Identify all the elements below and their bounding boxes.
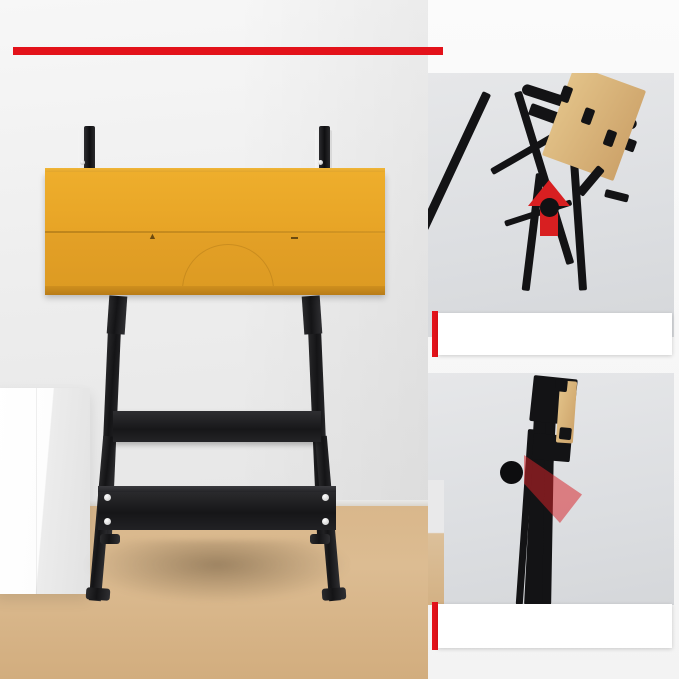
workbench: ▲: [0, 0, 428, 679]
tray-rivet: [104, 518, 111, 525]
product-feature-image: ▲: [0, 0, 679, 679]
step-2-caption-box: [438, 604, 672, 648]
inset1-tabletop: [542, 73, 646, 181]
alignment-caret-mark: ▲: [148, 231, 157, 241]
tool-tray: [98, 492, 336, 530]
inset1-crank-handle: [604, 189, 629, 203]
alignment-dash-mark: [291, 237, 298, 239]
foot-left: [86, 587, 111, 601]
inset2-clamp-b: [559, 427, 572, 440]
step-1-badge: [540, 198, 559, 217]
post-screw: [80, 160, 85, 165]
inset2-clamp-a: [555, 379, 568, 392]
foot-right: [322, 587, 347, 601]
tabletop-seam: [45, 231, 385, 233]
floor-shadow: [86, 540, 348, 602]
foot-rear-right: [310, 534, 330, 544]
leg-upper-right: [302, 295, 323, 334]
product-photo-scene: ▲: [0, 0, 428, 679]
step-1-caption-box: [438, 313, 672, 355]
post-screw: [318, 160, 323, 165]
tray-rivet: [104, 494, 111, 501]
leg-upper-left: [107, 295, 128, 334]
tray-rivet: [322, 494, 329, 501]
upper-cross-brace: [113, 411, 321, 442]
tray-rivet: [322, 518, 329, 525]
inset2-floor-strip: [428, 480, 444, 605]
foot-rear-left: [100, 534, 120, 544]
headline-underline: [13, 47, 443, 55]
step-2-badge: [500, 461, 523, 484]
inset1-leg-a: [428, 91, 491, 231]
tabletop-front-edge: [45, 286, 385, 295]
